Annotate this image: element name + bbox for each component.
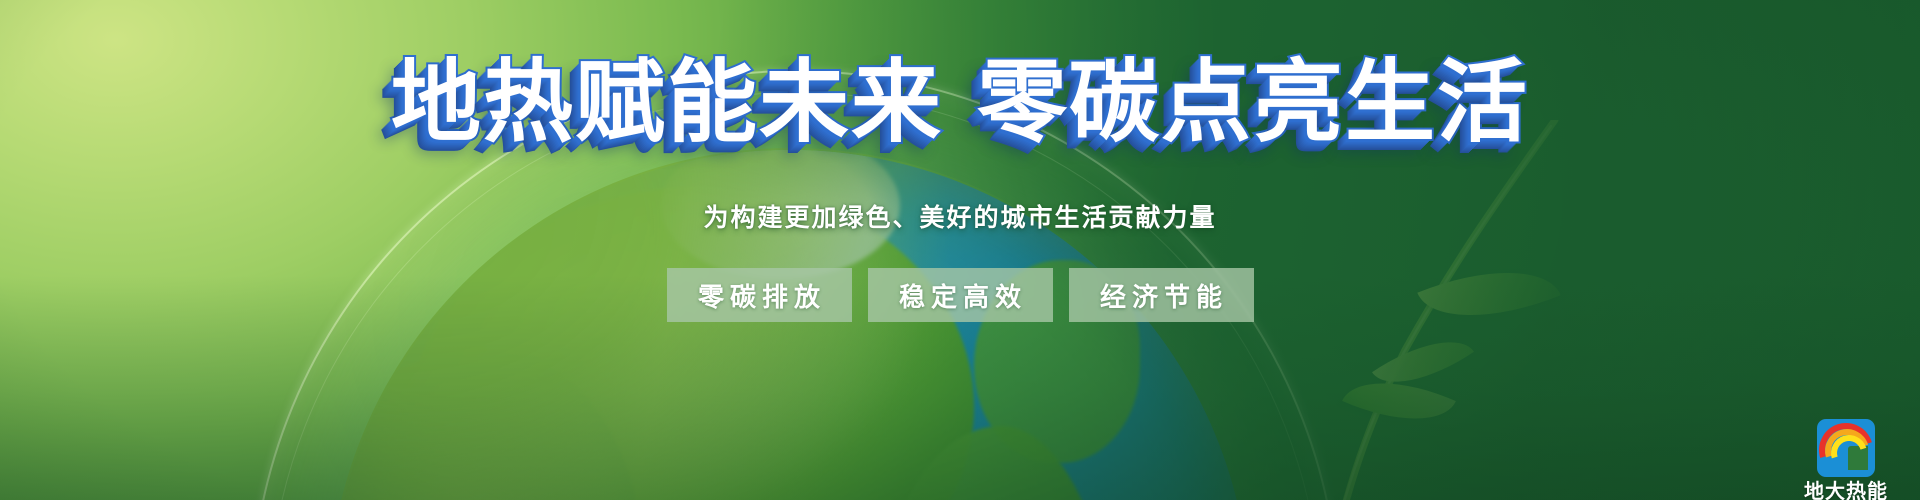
feature-badge-list: 零碳排放 稳定高效 经济节能 <box>0 268 1920 322</box>
banner-title-part-2: 零碳点亮生活 <box>977 50 1529 155</box>
banner-title: 地热赋能未来零碳点亮生活 <box>0 54 1920 151</box>
company-logo[interactable]: 地大热能 DI DA RE NENG <box>1786 419 1906 500</box>
feature-badge-stable-efficient[interactable]: 稳定高效 <box>868 268 1053 322</box>
feature-badge-economical[interactable]: 经济节能 <box>1069 268 1254 322</box>
logo-mark-icon <box>1817 419 1875 477</box>
feature-badge-zero-carbon[interactable]: 零碳排放 <box>667 268 852 322</box>
banner-subtitle: 为构建更加绿色、美好的城市生活贡献力量 <box>0 198 1920 234</box>
banner-title-part-1: 地热赋能未来 <box>391 50 943 155</box>
hero-banner: 地热赋能未来零碳点亮生活 为构建更加绿色、美好的城市生活贡献力量 零碳排放 稳定… <box>0 0 1920 500</box>
logo-name-cn: 地大热能 <box>1786 481 1906 500</box>
